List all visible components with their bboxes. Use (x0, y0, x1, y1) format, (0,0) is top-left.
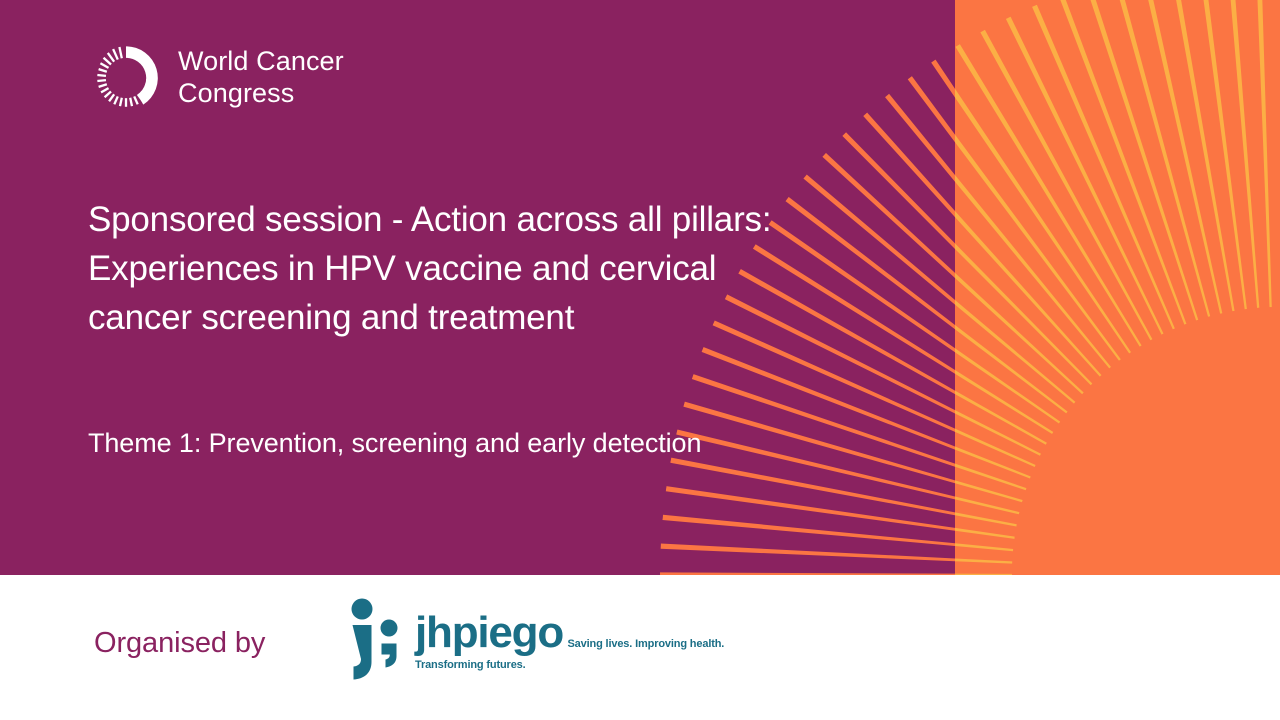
organised-by-label: Organised by (94, 623, 265, 663)
jhpiego-j-mark-icon (345, 598, 405, 680)
partner-text-block: jhpiego Saving lives. Improving health. … (415, 598, 724, 673)
session-slide: World Cancer Congress Sponsored session … (0, 0, 1280, 720)
page-title: Sponsored session - Action across all pi… (88, 195, 818, 342)
hero-banner: World Cancer Congress Sponsored session … (0, 0, 1280, 575)
world-cancer-congress-ring-icon (90, 42, 162, 114)
partner-name: jhpiego (415, 608, 563, 657)
brand-wordmark: World Cancer Congress (178, 46, 344, 110)
partner-logo-jhpiego: jhpiego Saving lives. Improving health. … (345, 598, 724, 680)
theme-label: Theme 1: Prevention, screening and early… (88, 424, 888, 462)
brand-logo-lockup: World Cancer Congress (90, 42, 344, 114)
